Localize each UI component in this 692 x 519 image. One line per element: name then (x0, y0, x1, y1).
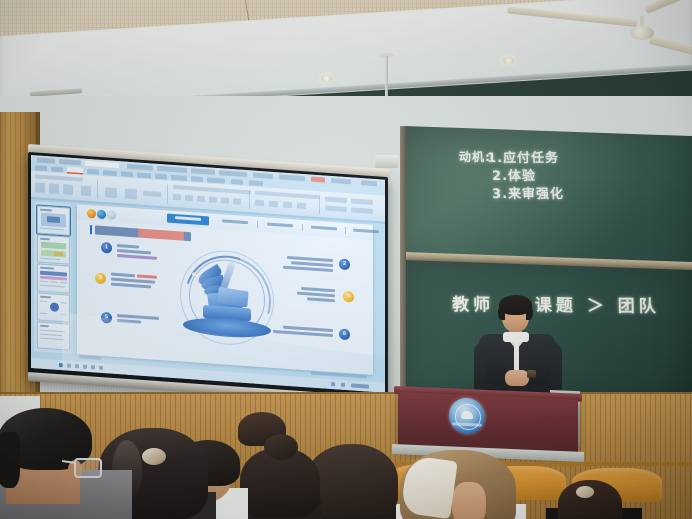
hair-clip-icon (576, 486, 594, 498)
audience-hair-bun (264, 434, 298, 460)
chalk-hierarchy-text: 教师 ＞ 课题 ＞ 团队 (452, 290, 660, 317)
ribbon-control[interactable] (35, 174, 83, 181)
taskbar-icon[interactable] (67, 363, 71, 367)
ribbon-button[interactable] (125, 189, 137, 200)
downlight-icon (321, 75, 332, 82)
audience-head (558, 480, 622, 519)
slide-bullet-number: 6 (339, 329, 350, 341)
ribbon-button[interactable] (255, 200, 264, 207)
ribbon-gallery-item[interactable] (325, 197, 347, 204)
downlight-icon (503, 57, 514, 64)
eyeglasses-icon (74, 458, 102, 478)
slide-nav-separator (257, 220, 258, 227)
ribbon-gallery-item[interactable] (351, 198, 373, 205)
paragraph-controls[interactable] (255, 191, 319, 199)
ribbon-separator (319, 195, 320, 214)
slide-title-accent (90, 225, 92, 234)
audience-face (452, 482, 486, 519)
logo-blue-dot-icon (97, 209, 106, 219)
slide-bullet-number: 5 (101, 312, 112, 324)
ribbon-button[interactable] (49, 183, 59, 194)
ribbon-control[interactable] (143, 191, 161, 197)
ribbon-tab[interactable] (51, 166, 63, 172)
screenshot-root: 动机: 1.应付任务 2.体验 3.来审强化 教师 ＞ 课题 ＞ 团队 (0, 0, 692, 519)
ceiling-fan-icon (630, 26, 654, 40)
slide-canvas[interactable]: 1 3 5 2 4 6 (77, 204, 373, 375)
ribbon-tab[interactable] (171, 174, 187, 180)
tray-icon[interactable] (341, 382, 345, 386)
slide-bullet-number: 4 (343, 291, 354, 303)
ribbon-button[interactable] (209, 196, 217, 203)
chalk-line-3: 3.来审强化 (492, 183, 565, 202)
ribbon-separator (97, 180, 98, 199)
slide-title-text (95, 225, 191, 241)
hair-clip-icon (142, 448, 166, 465)
ribbon-tab[interactable] (35, 165, 47, 171)
ribbon-tab[interactable] (231, 178, 243, 184)
ribbon-button[interactable] (81, 185, 91, 196)
ribbon-tab[interactable] (155, 173, 167, 179)
status-bar-left (79, 355, 101, 360)
ribbon-separator (167, 185, 168, 204)
presenter-hair-side (498, 306, 505, 320)
taskbar-icon[interactable] (83, 364, 87, 368)
taskbar-icon[interactable] (75, 364, 79, 368)
presenter-arm (487, 352, 507, 386)
screen-rod-base (375, 155, 398, 168)
slide-thumbnail[interactable] (37, 234, 70, 264)
ribbon-button[interactable] (233, 198, 241, 205)
ribbon-button[interactable] (173, 194, 181, 201)
slide-nav-separator (302, 223, 303, 230)
ribbon-tab[interactable] (137, 172, 151, 178)
presenter-hair-side (526, 306, 533, 320)
presenter-arm (529, 352, 549, 386)
ribbon-tab[interactable] (207, 177, 225, 183)
ribbon-gallery-item[interactable] (351, 207, 373, 214)
ribbon-button[interactable] (105, 187, 117, 198)
ribbon-button[interactable] (221, 197, 229, 204)
presenter-collar (503, 332, 529, 342)
ribbon-button[interactable] (63, 184, 73, 195)
ribbon-tab[interactable] (249, 180, 263, 186)
ribbon-tab[interactable] (87, 168, 99, 174)
logo-orange-dot-icon (87, 208, 96, 218)
ribbon-separator (249, 190, 250, 209)
ribbon-button[interactable] (269, 201, 278, 208)
slide-bullet-number: 1 (101, 242, 112, 254)
slide-thumbnails-pane[interactable] (34, 201, 71, 354)
font-controls[interactable] (173, 185, 251, 194)
slide-thumbnail[interactable] (37, 205, 70, 235)
taskbar-icon[interactable] (91, 365, 95, 369)
titlebar-accent-chip (311, 176, 325, 182)
ribbon-tab[interactable] (103, 170, 117, 176)
ribbon-tab[interactable] (191, 176, 203, 182)
ribbon-button[interactable] (185, 195, 193, 202)
presenter-hands (505, 370, 529, 386)
slide-thumbnail[interactable] (37, 292, 70, 322)
slide-thumbnail[interactable] (37, 321, 70, 350)
chalk-line-2: 2.体验 (492, 165, 537, 184)
window-controls[interactable] (361, 180, 377, 187)
clock[interactable] (351, 383, 369, 388)
slide-bullet-number: 2 (339, 259, 350, 271)
slide-nav-separator (345, 226, 346, 233)
crest-mark (461, 411, 473, 420)
slide-bullet-number: 3 (95, 272, 106, 284)
logo-light-dot-icon (107, 210, 116, 220)
ribbon-gallery-item[interactable] (325, 206, 347, 213)
ribbon-button[interactable] (35, 182, 45, 193)
projected-desktop[interactable]: 1 3 5 2 4 6 (31, 155, 385, 393)
chalk-line-1: 1.应付任务 (487, 147, 560, 166)
hero-sparkle-icon (192, 272, 196, 276)
blackboard-left-rail (400, 126, 406, 398)
ribbon-tab[interactable] (121, 171, 133, 177)
tray-icon[interactable] (331, 382, 335, 386)
ribbon-button[interactable] (297, 203, 306, 210)
wristwatch-icon (527, 370, 536, 378)
start-icon[interactable] (59, 363, 63, 367)
slide-thumbnail[interactable] (37, 263, 70, 293)
ribbon-button[interactable] (197, 196, 205, 203)
taskbar-icon[interactable] (99, 366, 103, 370)
ribbon-button[interactable] (283, 202, 292, 209)
audience-hair (0, 432, 20, 488)
